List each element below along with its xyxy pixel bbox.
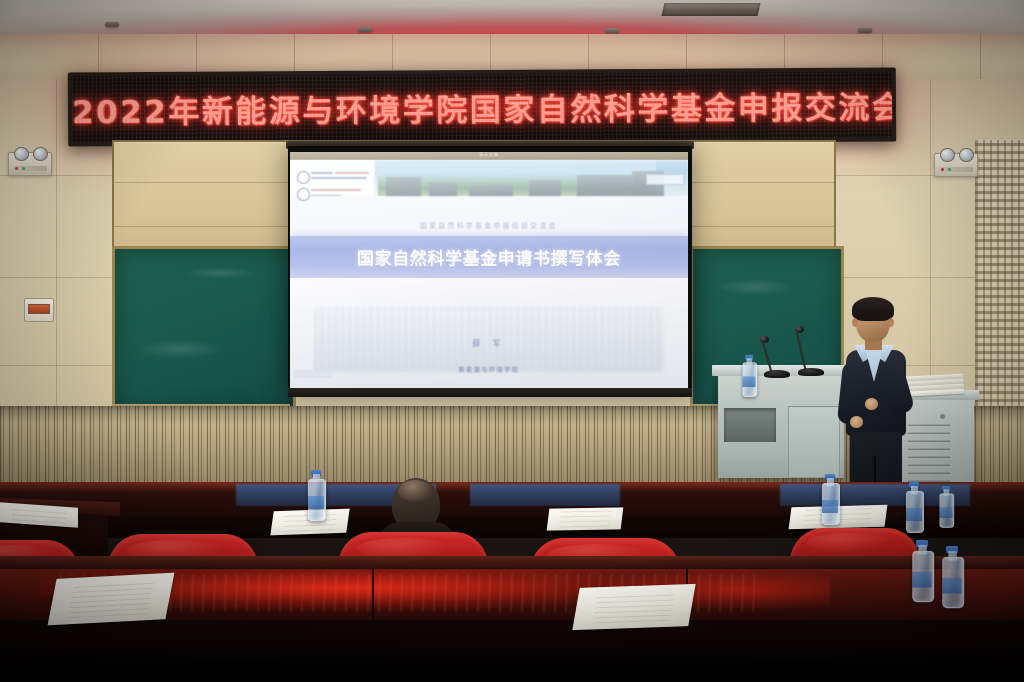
conference-room-photo: 2022年新能源与环境学院国家自然科学基金申报交流会 演示文稿 xyxy=(0,0,1024,682)
slide-subline: 国家自然科学基金申报经验交流会 xyxy=(290,220,688,230)
slide-header-banner xyxy=(290,160,688,196)
paper-sheet xyxy=(48,573,175,626)
acoustic-panel xyxy=(975,140,1024,410)
microphone-head-icon xyxy=(795,326,804,333)
microphone-base xyxy=(798,368,824,376)
slide-app-bar-text: 演示文稿 xyxy=(290,152,688,158)
emergency-light-icon xyxy=(934,153,978,177)
emergency-light-icon xyxy=(8,152,52,176)
ceiling-light-fixture xyxy=(105,22,119,27)
paper-sheet xyxy=(572,584,695,630)
slide-title: 国家自然科学基金申请书撰写体会 xyxy=(290,245,688,270)
microphone-base xyxy=(764,370,790,378)
slide-title-band: 国家自然科学基金申请书撰写体会 xyxy=(290,236,688,278)
projection-screen: 演示文稿 xyxy=(288,146,692,394)
presenter-hair xyxy=(852,297,894,321)
slide-body: 薛 军 新能源与环境学院 xyxy=(290,278,688,390)
paper-sheet xyxy=(547,507,624,530)
podium xyxy=(718,372,844,478)
foreground-shadow xyxy=(0,648,1024,682)
university-logo xyxy=(297,171,373,201)
wall-alarm-box-icon[interactable] xyxy=(24,298,54,322)
presenter-hand xyxy=(865,398,878,410)
ceiling-light-fixture xyxy=(605,28,619,33)
slide-app-bar: 演示文稿 xyxy=(290,152,688,160)
chalkboard-left xyxy=(112,246,296,412)
microphone-head-icon xyxy=(760,336,769,343)
screen-bottom-bar xyxy=(288,388,692,397)
slide-affiliation: 新能源与环境学院 xyxy=(290,365,688,374)
slide-surface: 演示文稿 xyxy=(290,152,688,390)
slide-header-button[interactable] xyxy=(646,174,684,185)
led-banner-text: 2022年新能源与环境学院国家自然科学基金申报交流会 xyxy=(72,82,892,132)
ceiling-light-fixture xyxy=(858,28,872,33)
presenter-hand xyxy=(850,416,863,428)
ceiling-light-fixture xyxy=(358,27,372,32)
slide-corner-tag xyxy=(294,370,332,378)
led-banner: 2022年新能源与环境学院国家自然科学基金申报交流会 xyxy=(68,67,896,146)
slide-presenter-name: 薛 军 xyxy=(290,338,688,349)
ceiling-vent-icon xyxy=(661,3,760,16)
